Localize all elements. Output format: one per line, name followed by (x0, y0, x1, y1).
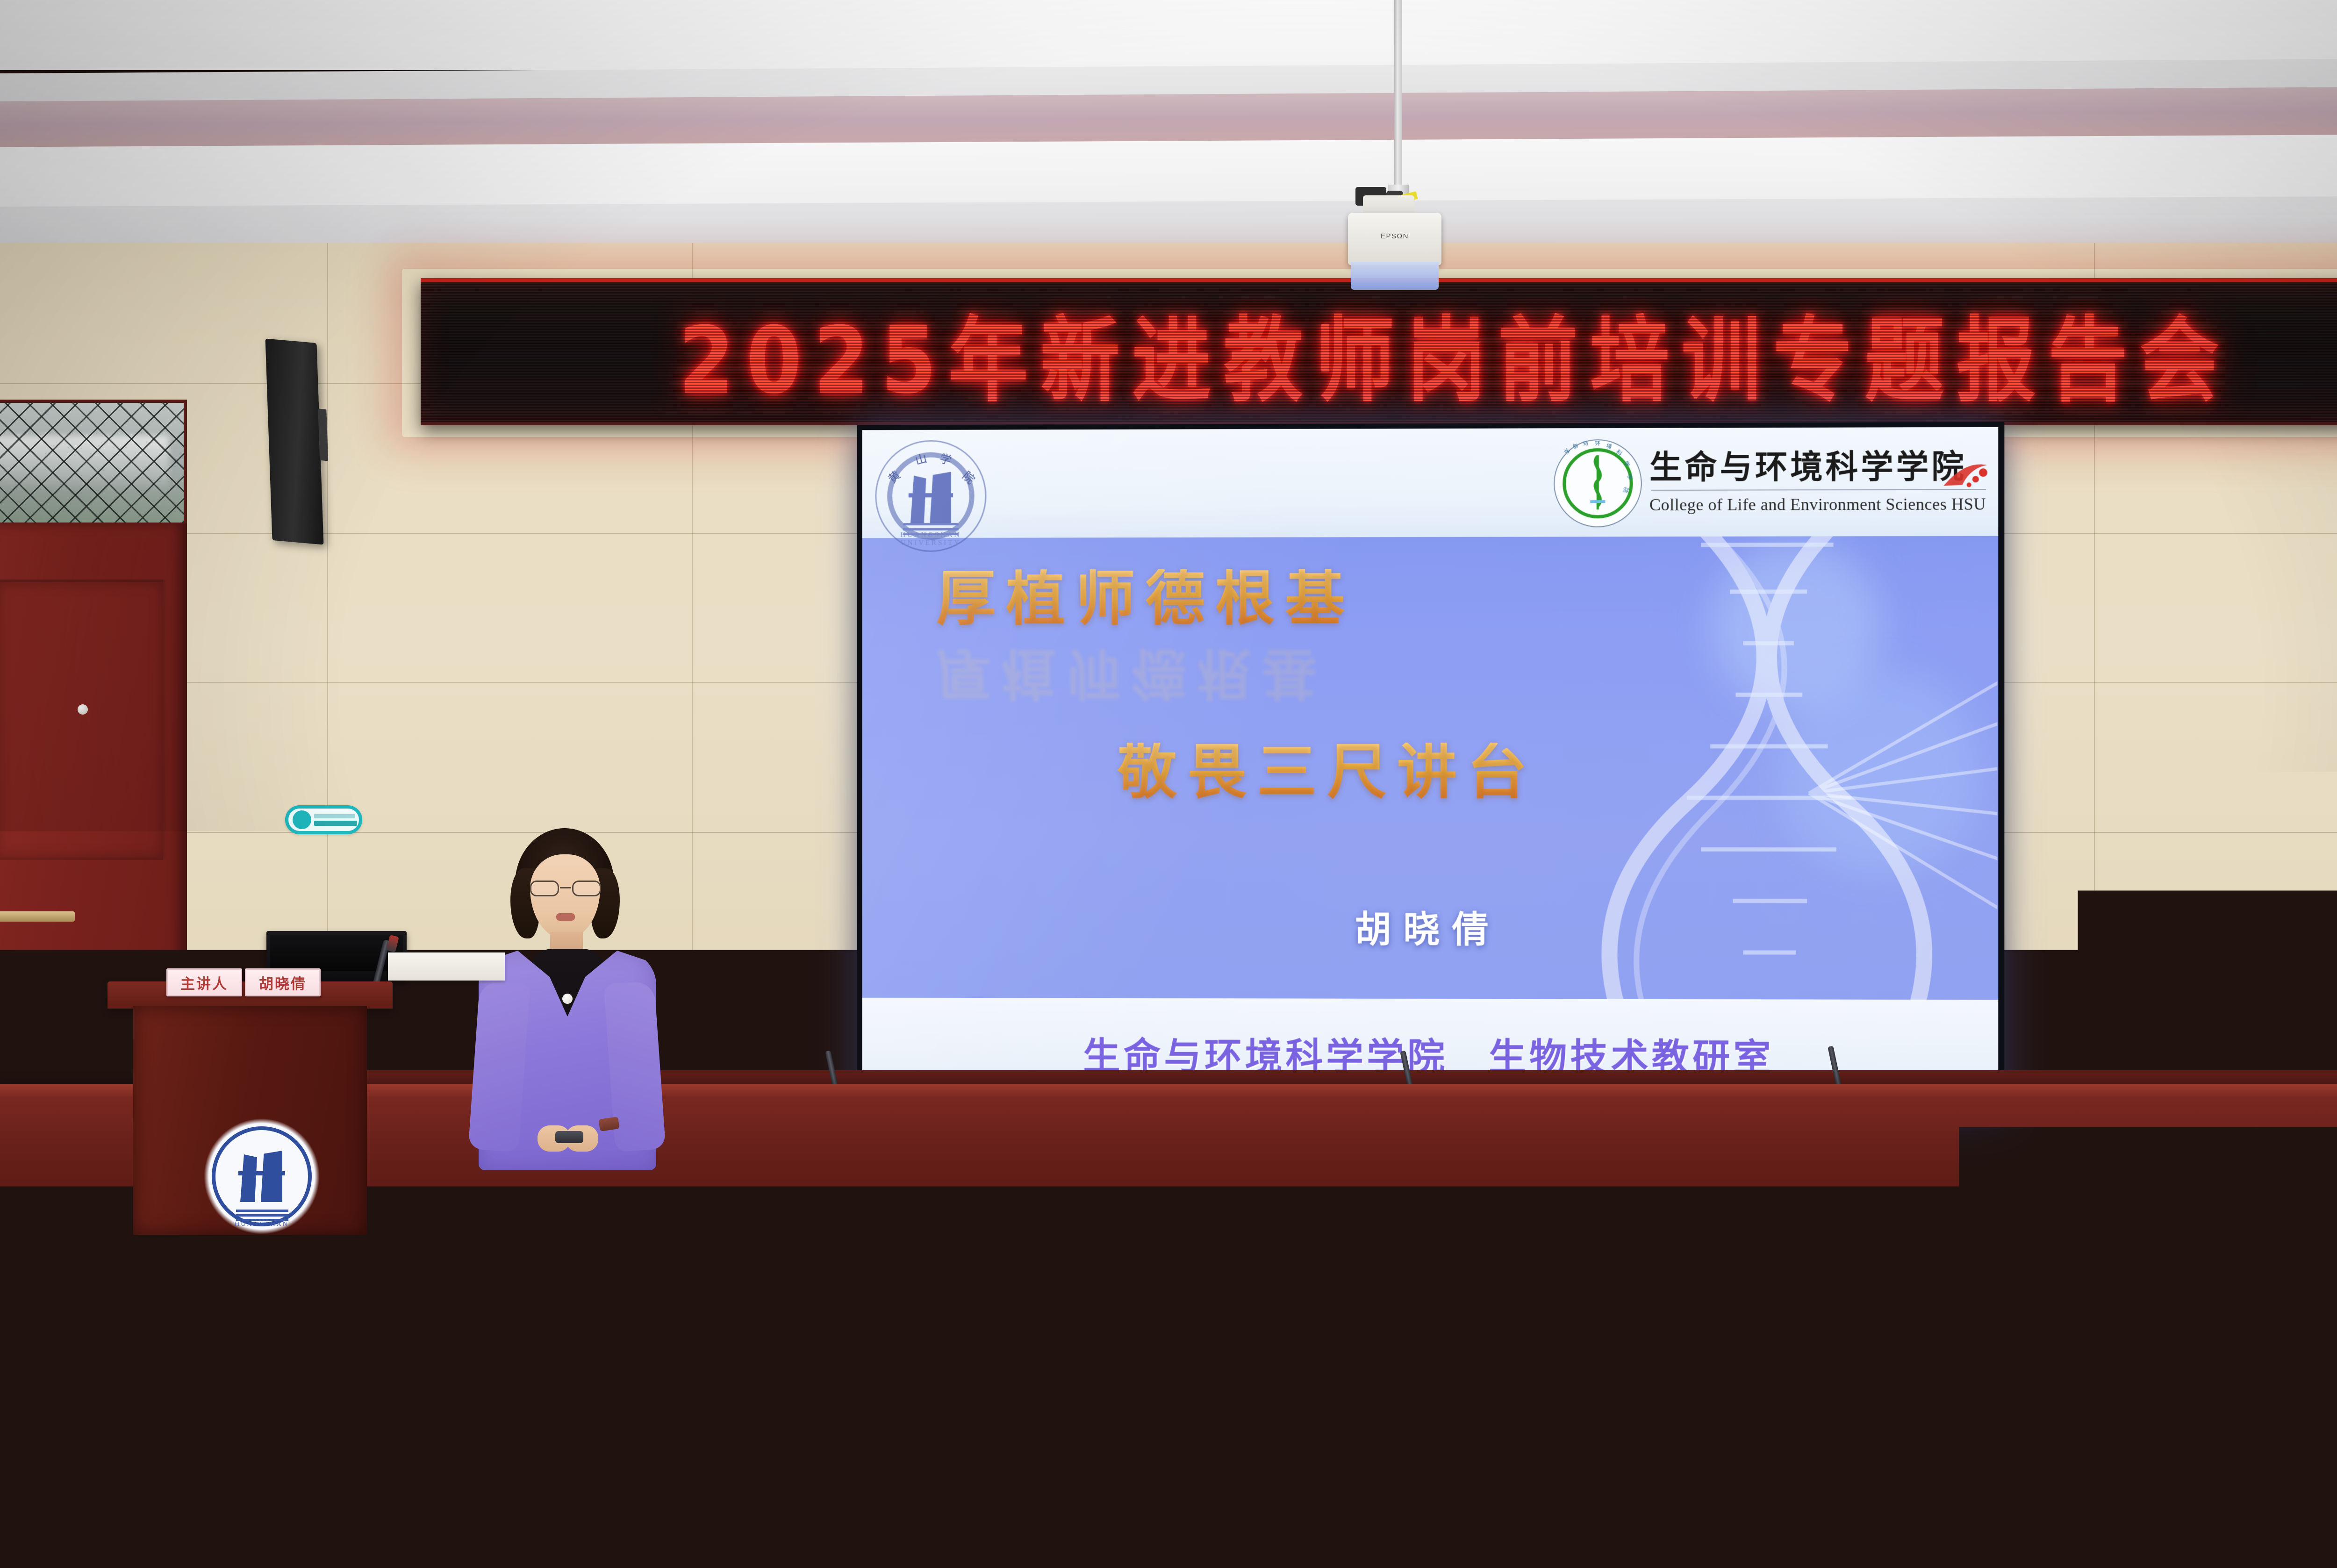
seat[interactable] (0, 1164, 84, 1255)
audience-seating (0, 1056, 2337, 1568)
seat[interactable] (753, 1164, 893, 1255)
door-knob[interactable] (78, 704, 88, 715)
projector-brand-label: EPSON (1348, 232, 1441, 240)
slide-header-band: 黄 山 学 院 HUANGSHAN UNIVERSITY (862, 427, 1999, 538)
nameplate-name: 胡晓倩 (259, 972, 307, 993)
college-name-en: College of Life and Environment Sciences… (1649, 494, 1986, 515)
lattice-grille (0, 403, 184, 523)
slide-title-line-2: 敬畏三尺讲台 (1118, 743, 1942, 803)
projector-lens (1351, 262, 1439, 290)
slide-title-block: 厚植师德根基 厚植师德根基 敬畏三尺讲台 (862, 568, 1999, 802)
seal-char-0: 黄 (884, 466, 903, 487)
badge-ring-char-7: 学 (1626, 474, 1634, 480)
projector-mount-pole (1394, 0, 1402, 196)
glasses-icon (529, 881, 602, 896)
wall-notice-plaque (285, 805, 362, 834)
led-banner-text: 2025年新进教师岗前培训专题报告会 (667, 286, 2231, 419)
slide-presenter-name: 胡晓倩 (862, 900, 1999, 954)
seal-char-3: 院 (959, 467, 979, 487)
badge-ring-char-2: 与 (1582, 438, 1590, 448)
seal-char-2: 学 (938, 449, 954, 468)
projection-screen: 黄 山 学 院 HUANGSHAN UNIVERSITY (857, 422, 2005, 1117)
podium-paper (388, 952, 505, 981)
badge-ring-char-1: 命 (1570, 441, 1580, 451)
transom-window (0, 400, 187, 526)
seat[interactable] (1399, 1164, 1540, 1255)
university-seal-logo: 黄 山 学 院 HUANGSHAN UNIVERSITY (875, 440, 986, 552)
auditorium-scene: 2025年新进教师岗前培训专题报告会 EPSON (0, 0, 2337, 1568)
badge-ring-char-6: 学 (1622, 459, 1632, 468)
wall-speaker-left (265, 338, 324, 544)
college-logo: 生 命 与 环 境 科 学 学 院 生命与环境科学学院 (1554, 436, 1986, 530)
slide-title-reflection: 厚植师德根基 (936, 638, 1327, 718)
seat[interactable] (1723, 1164, 1863, 1255)
led-banner: 2025年新进教师岗前培训专题报告会 (421, 278, 2337, 425)
seal-char-1: 山 (913, 449, 929, 468)
college-badge-icon: 生 命 与 环 境 科 学 学 院 (1554, 439, 1642, 528)
badge-ring-char-5: 科 (1615, 448, 1624, 458)
badge-ring-char-3: 环 (1595, 439, 1601, 448)
badge-ring-char-0: 生 (1562, 446, 1572, 455)
seal-english-text: HUANGSHAN UNIVERSITY (875, 531, 986, 547)
ceiling-projector: EPSON (1369, 0, 1566, 299)
red-swirl-icon (1942, 458, 1993, 494)
seat[interactable] (429, 1164, 569, 1255)
ceiling (0, 0, 2337, 262)
plaque-dot-icon (293, 810, 311, 829)
slide-title-line-1: 厚植师德根基 (936, 568, 1942, 629)
badge-ring-char-4: 境 (1605, 442, 1613, 451)
badge-ring-char-8: 院 (1621, 486, 1631, 494)
door-push-bar[interactable] (0, 911, 75, 922)
nameplate-role: 主讲人 (180, 972, 228, 993)
podium-nameplate: 主讲人 胡晓倩 (166, 968, 321, 996)
college-name-cn: 生命与环境科学学院 (1649, 451, 1986, 484)
